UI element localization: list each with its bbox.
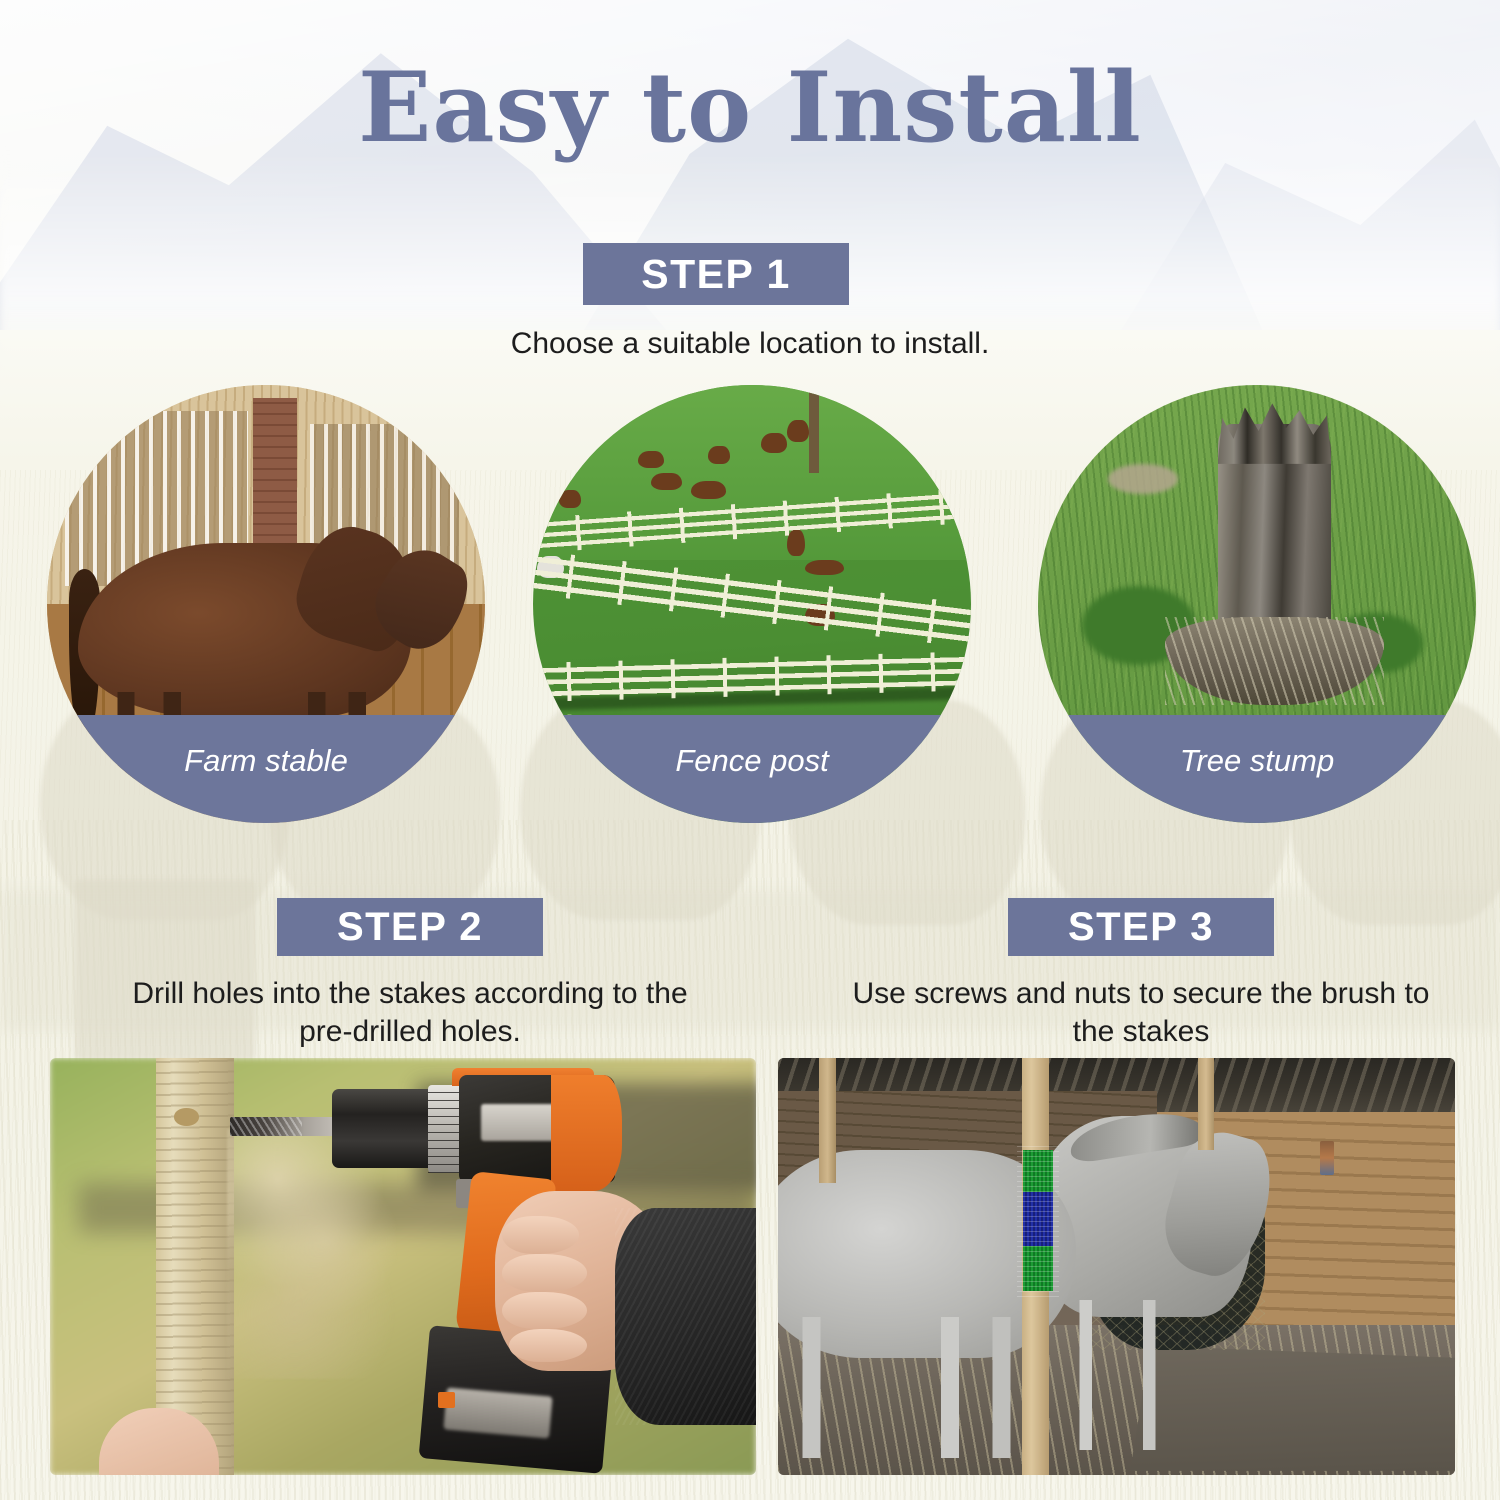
step-1-badge: STEP 1 <box>583 243 849 305</box>
finger-1 <box>502 1216 580 1254</box>
page-title: Easy to Install <box>0 58 1500 159</box>
pasture-horse-9 <box>805 560 844 575</box>
grey-horse-rear-legs <box>1062 1300 1238 1450</box>
pasture-tree <box>809 385 820 473</box>
drill-battery-indicator <box>438 1392 455 1409</box>
pasture-horse-5 <box>651 473 682 491</box>
black-sleeve <box>615 1208 756 1425</box>
wood-knot <box>174 1108 199 1126</box>
step-3-badge: STEP 3 <box>1008 898 1274 956</box>
finger-3 <box>502 1292 587 1330</box>
horse-scratcher-brush <box>1023 1150 1053 1292</box>
tree-stump-root-mass <box>1165 617 1384 705</box>
tree-stump-trunk <box>1218 424 1332 643</box>
brush-bristles <box>1017 1144 1060 1297</box>
pasture-horse-2 <box>708 446 730 464</box>
location-caption-tree-stump: Tree stump <box>1038 715 1476 823</box>
location-caption-farm-stable: Farm stable <box>47 715 485 823</box>
barn-post-right <box>1198 1058 1214 1150</box>
pasture-horse-1 <box>638 451 664 469</box>
finger-2 <box>502 1254 587 1292</box>
pasture-horse-6 <box>691 481 726 499</box>
step-2-badge: STEP 2 <box>277 898 543 956</box>
drill-photo <box>50 1058 756 1475</box>
drill-rear-cap <box>551 1075 622 1192</box>
grey-horse-front-legs <box>792 1317 1049 1459</box>
step-3-description: Use screws and nuts to secure the brush … <box>836 975 1446 1051</box>
pasture-horse-3 <box>761 433 787 453</box>
drill-body-panel <box>481 1104 555 1142</box>
step-2-description: Drill holes into the stakes according to… <box>105 975 715 1051</box>
barn-photo <box>778 1058 1455 1475</box>
pasture-horse-4 <box>787 420 809 442</box>
location-card-tree-stump: Tree stump <box>1038 385 1476 823</box>
wall-hook <box>1320 1141 1335 1174</box>
pasture-horse-7 <box>559 490 581 508</box>
step-1-description: Choose a suitable location to install. <box>350 325 1150 363</box>
barn-post-left <box>819 1058 837 1183</box>
finger-4 <box>509 1329 587 1362</box>
location-card-farm-stable: Farm stable <box>47 385 485 823</box>
drill-battery-panel <box>444 1387 553 1438</box>
location-card-fence-post: Fence post <box>533 385 971 823</box>
location-caption-fence-post: Fence post <box>533 715 971 823</box>
pasture-fence-2 <box>533 548 971 651</box>
